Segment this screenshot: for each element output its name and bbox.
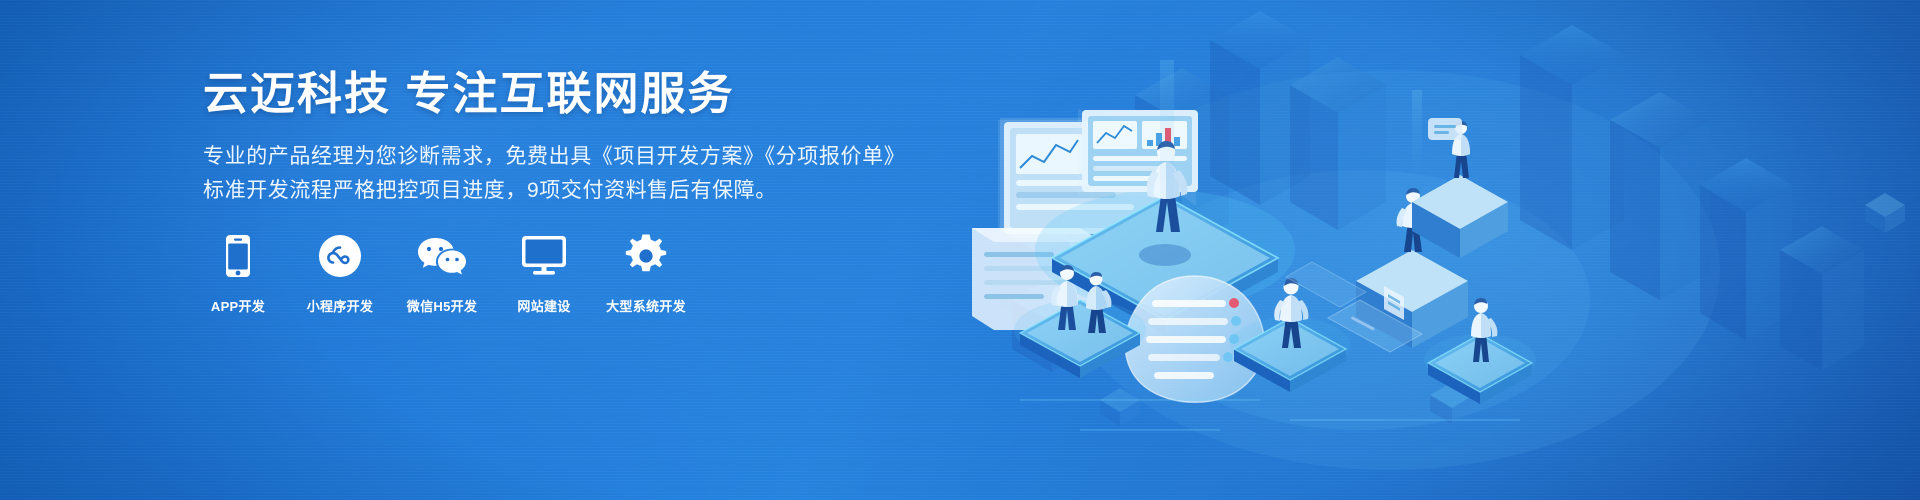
banner-subtitle: 专业的产品经理为您诊断需求，免费出具《项目开发方案》《分项报价单》 标准开发流程… <box>203 140 903 208</box>
service-label: 大型系统开发 <box>606 296 686 315</box>
illustration-isometric-scene <box>960 0 1920 500</box>
wechat-icon <box>416 233 468 279</box>
gear-icon <box>624 233 668 279</box>
banner-headline: 云迈科技 专注互联网服务 <box>203 68 903 120</box>
monitor-icon <box>521 233 567 279</box>
service-label: 网站建设 <box>517 296 570 315</box>
service-label: APP开发 <box>211 296 265 315</box>
service-list: APP开发 小程序开发 <box>200 233 684 315</box>
service-item-website[interactable]: 网站建设 <box>506 233 582 315</box>
promo-banner: 云迈科技 专注互联网服务 专业的产品经理为您诊断需求，免费出具《项目开发方案》《… <box>0 0 1920 500</box>
banner-subtitle-line-1: 专业的产品经理为您诊断需求，免费出具《项目开发方案》《分项报价单》 <box>203 140 903 174</box>
mini-program-icon <box>318 233 362 279</box>
mobile-phone-icon <box>225 233 251 279</box>
banner-subtitle-line-2: 标准开发流程严格把控项目进度，9项交付资料售后有保障。 <box>203 174 903 208</box>
service-item-wechat-h5[interactable]: 微信H5开发 <box>404 233 480 315</box>
service-item-large-system[interactable]: 大型系统开发 <box>608 233 684 315</box>
service-label: 微信H5开发 <box>407 296 477 315</box>
service-item-app[interactable]: APP开发 <box>200 233 276 315</box>
service-item-mini-program[interactable]: 小程序开发 <box>302 233 378 315</box>
banner-copy: 云迈科技 专注互联网服务 专业的产品经理为您诊断需求，免费出具《项目开发方案》《… <box>203 68 903 208</box>
service-label: 小程序开发 <box>307 296 374 315</box>
